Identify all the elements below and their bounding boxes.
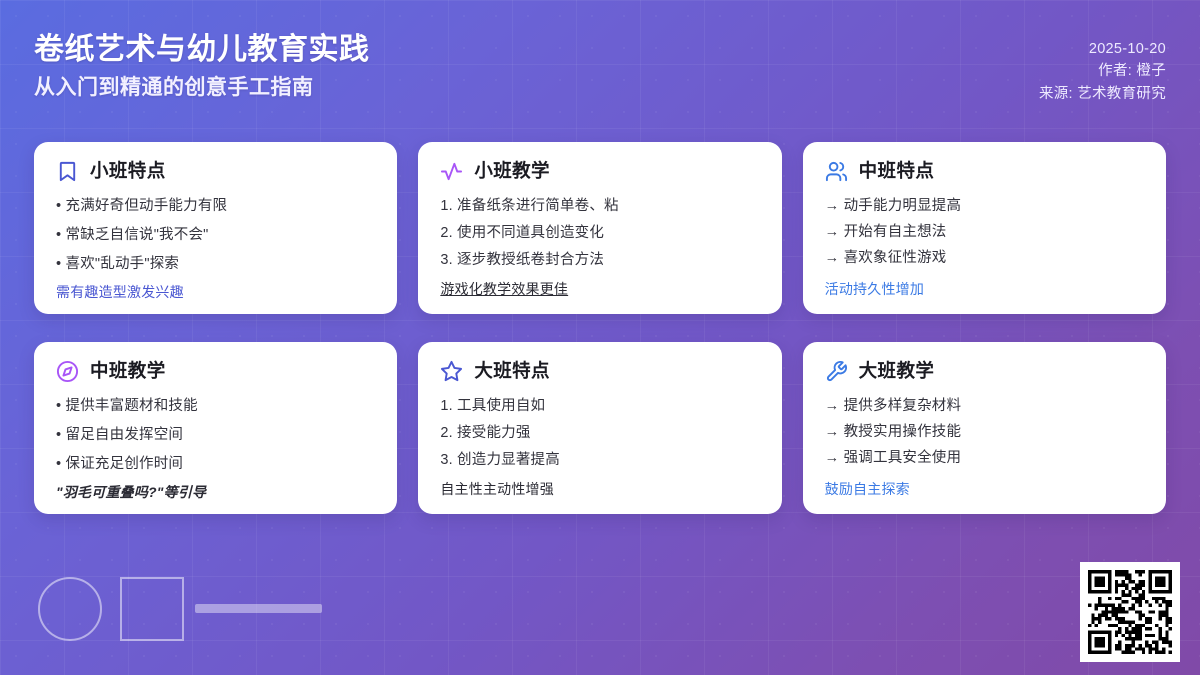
card-zhongban-jiaoxue[interactable]: 中班教学 提供丰富题材和技能 留足自由发挥空间 保证充足创作时间 "羽毛可重叠吗… <box>34 342 397 514</box>
card-xiaoban-tedian[interactable]: 小班特点 充满好奇但动手能力有限 常缺乏自信说"我不会" 喜欢"乱动手"探索 需… <box>34 142 397 314</box>
qr-code-image <box>1088 570 1172 654</box>
meta-source: 来源: 艺术教育研究 <box>1039 83 1166 105</box>
card-daban-jiaoxue[interactable]: 大班教学 提供多样复杂材料 教授实用操作技能 强调工具安全使用 鼓励自主探索 <box>803 342 1166 514</box>
page-subtitle: 从入门到精通的创意手工指南 <box>34 75 370 101</box>
wrench-icon <box>825 360 848 383</box>
list-item: 3. 逐步教授纸卷封合方法 <box>440 250 759 272</box>
list-item: 动手能力明显提高 <box>825 196 1144 218</box>
list-item: 充满好奇但动手能力有限 <box>56 196 375 218</box>
list-item: 开始有自主想法 <box>825 222 1144 244</box>
card-list: 1. 准备纸条进行简单卷、粘 2. 使用不同道具创造变化 3. 逐步教授纸卷封合… <box>440 196 759 279</box>
list-item: 教授实用操作技能 <box>825 422 1144 444</box>
star-icon <box>440 360 463 383</box>
card-title: 大班教学 <box>859 362 935 381</box>
cards-grid: 小班特点 充满好奇但动手能力有限 常缺乏自信说"我不会" 喜欢"乱动手"探索 需… <box>34 142 1166 514</box>
activity-icon <box>440 160 463 183</box>
meta-date: 2025-10-20 <box>1039 38 1166 60</box>
list-item: 喜欢"乱动手"探索 <box>56 254 375 276</box>
decorative-bar <box>195 604 322 613</box>
card-footer-note: 鼓励自主探索 <box>825 480 1144 500</box>
card-xiaoban-jiaoxue[interactable]: 小班教学 1. 准备纸条进行简单卷、粘 2. 使用不同道具创造变化 3. 逐步教… <box>418 142 781 314</box>
card-header: 大班特点 <box>440 360 759 383</box>
list-item: 2. 接受能力强 <box>440 423 759 445</box>
card-list: 动手能力明显提高 开始有自主想法 喜欢象征性游戏 <box>825 196 1144 279</box>
poster-header: 卷纸艺术与幼儿教育实践 从入门到精通的创意手工指南 2025-10-20 作者:… <box>0 0 1200 128</box>
card-header: 大班教学 <box>825 360 1144 383</box>
list-item: 提供多样复杂材料 <box>825 396 1144 418</box>
qr-code[interactable] <box>1080 562 1180 662</box>
card-title: 大班特点 <box>474 362 550 381</box>
list-item: 提供丰富题材和技能 <box>56 396 375 418</box>
card-list: 提供丰富题材和技能 留足自由发挥空间 保证充足创作时间 <box>56 396 375 482</box>
list-item: 喜欢象征性游戏 <box>825 248 1144 270</box>
card-footer-note: 活动持久性增加 <box>825 280 1144 300</box>
list-item: 3. 创造力显著提高 <box>440 450 759 472</box>
card-list: 提供多样复杂材料 教授实用操作技能 强调工具安全使用 <box>825 396 1144 479</box>
card-daban-tedian[interactable]: 大班特点 1. 工具使用自如 2. 接受能力强 3. 创造力显著提高 自主性主动… <box>418 342 781 514</box>
page-title: 卷纸艺术与幼儿教育实践 <box>34 31 370 68</box>
bookmark-icon <box>56 160 79 183</box>
list-item: 强调工具安全使用 <box>825 448 1144 470</box>
list-item: 留足自由发挥空间 <box>56 425 375 447</box>
card-title: 小班特点 <box>90 162 166 181</box>
card-header: 小班特点 <box>56 160 375 183</box>
poster-root: 卷纸艺术与幼儿教育实践 从入门到精通的创意手工指南 2025-10-20 作者:… <box>0 0 1200 675</box>
card-title: 中班教学 <box>90 362 166 381</box>
card-header: 小班教学 <box>440 160 759 183</box>
card-zhongban-tedian[interactable]: 中班特点 动手能力明显提高 开始有自主想法 喜欢象征性游戏 活动持久性增加 <box>803 142 1166 314</box>
decorative-square <box>120 577 184 641</box>
list-item: 保证充足创作时间 <box>56 454 375 476</box>
decorative-circle <box>38 577 102 641</box>
title-block: 卷纸艺术与幼儿教育实践 从入门到精通的创意手工指南 <box>34 28 370 101</box>
users-icon <box>825 160 848 183</box>
card-title: 小班教学 <box>474 162 550 181</box>
compass-icon <box>56 360 79 383</box>
card-header: 中班特点 <box>825 160 1144 183</box>
meta-author: 作者: 橙子 <box>1039 60 1166 82</box>
card-title: 中班特点 <box>859 162 935 181</box>
list-item: 常缺乏自信说"我不会" <box>56 225 375 247</box>
list-item: 1. 准备纸条进行简单卷、粘 <box>440 196 759 218</box>
list-item: 1. 工具使用自如 <box>440 396 759 418</box>
card-footer-note: 自主性主动性增强 <box>440 480 759 500</box>
card-footer-note: "羽毛可重叠吗?"等引导 <box>56 483 375 503</box>
card-footer-note: 游戏化教学效果更佳 <box>440 280 759 300</box>
list-item: 2. 使用不同道具创造变化 <box>440 223 759 245</box>
card-header: 中班教学 <box>56 360 375 383</box>
card-list: 充满好奇但动手能力有限 常缺乏自信说"我不会" 喜欢"乱动手"探索 <box>56 196 375 282</box>
card-list: 1. 工具使用自如 2. 接受能力强 3. 创造力显著提高 <box>440 396 759 479</box>
meta-block: 2025-10-20 作者: 橙子 来源: 艺术教育研究 <box>1039 28 1166 105</box>
card-footer-note: 需有趣造型激发兴趣 <box>56 283 375 303</box>
